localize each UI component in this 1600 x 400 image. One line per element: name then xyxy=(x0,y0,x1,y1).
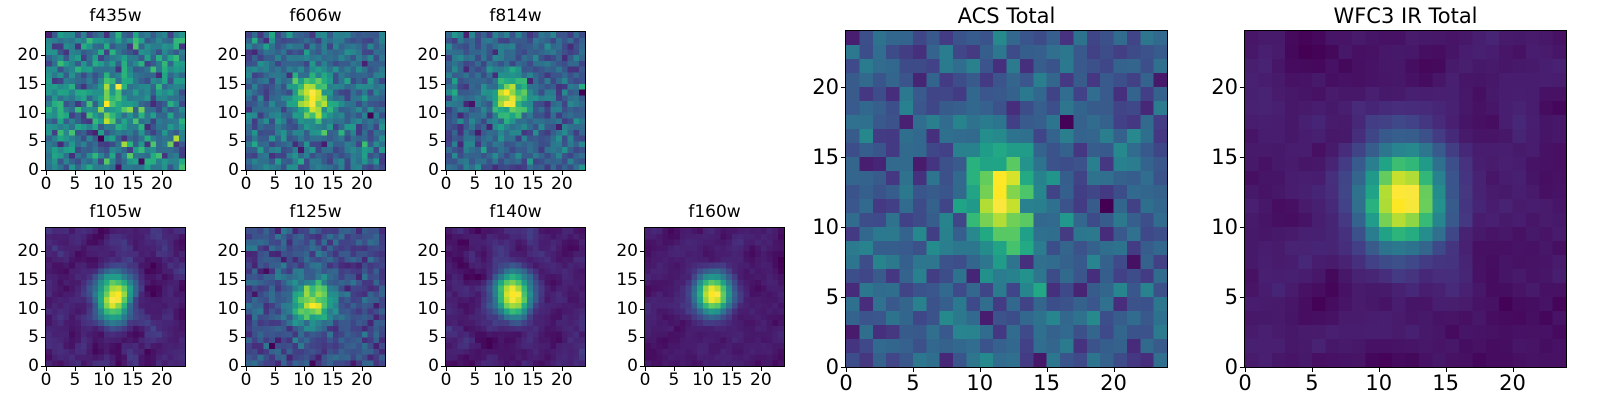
ytick-mark-acs-total-15 xyxy=(841,157,845,158)
panel-f125w: f125w0510152005101520 xyxy=(199,201,386,395)
xtick-mark-f140w-5 xyxy=(475,367,476,371)
ytick-label-f606w-15: 15 xyxy=(199,76,239,93)
ytick-label-f435w-20: 20 xyxy=(0,47,39,64)
xtick-label-wfc3-ir-total-5: 5 xyxy=(1292,373,1332,394)
xtick-mark-f125w-20 xyxy=(362,367,363,371)
panel-f160w: f160w0510152005101520 xyxy=(598,201,785,395)
ytick-label-f606w-10: 10 xyxy=(199,105,239,122)
ytick-mark-f105w-20 xyxy=(41,251,45,252)
ytick-label-f125w-15: 15 xyxy=(199,272,239,289)
ytick-mark-f814w-20 xyxy=(441,55,445,56)
ytick-label-acs-total-5: 5 xyxy=(799,287,839,308)
xtick-mark-f105w-20 xyxy=(162,367,163,371)
xtick-mark-f606w-10 xyxy=(304,171,305,175)
xtick-mark-f814w-15 xyxy=(533,171,534,175)
xtick-mark-acs-total-15 xyxy=(1047,368,1048,372)
heatmap-image-f140w xyxy=(446,228,585,366)
xtick-mark-f125w-5 xyxy=(275,367,276,371)
xtick-mark-wfc3-ir-total-5 xyxy=(1312,368,1313,372)
ytick-label-f814w-10: 10 xyxy=(399,105,439,122)
xtick-mark-f140w-10 xyxy=(504,367,505,371)
heatmap-axes-f606w xyxy=(245,31,386,171)
ytick-mark-f105w-0 xyxy=(41,366,45,367)
heatmap-image-acs-total xyxy=(846,31,1167,367)
ytick-mark-f435w-0 xyxy=(41,170,45,171)
xtick-mark-f814w-10 xyxy=(504,171,505,175)
panel-title-wfc3-ir-total: WFC3 IR Total xyxy=(1244,6,1567,27)
heatmap-image-f814w xyxy=(446,32,585,170)
ytick-mark-f160w-5 xyxy=(640,337,644,338)
heatmap-image-f606w xyxy=(246,32,385,170)
ytick-mark-f606w-15 xyxy=(241,84,245,85)
ytick-mark-f125w-15 xyxy=(241,280,245,281)
xtick-label-f160w-20: 20 xyxy=(741,372,781,389)
panel-title-f140w: f140w xyxy=(445,204,586,221)
ytick-mark-f125w-20 xyxy=(241,251,245,252)
heatmap-axes-f105w xyxy=(45,227,186,367)
xtick-mark-f160w-20 xyxy=(761,367,762,371)
xtick-mark-f606w-5 xyxy=(275,171,276,175)
xtick-mark-f105w-0 xyxy=(46,367,47,371)
panel-f105w: f105w0510152005101520 xyxy=(0,201,186,395)
ytick-label-f105w-10: 10 xyxy=(0,301,39,318)
xtick-mark-f435w-5 xyxy=(75,171,76,175)
xtick-label-wfc3-ir-total-20: 20 xyxy=(1493,373,1533,394)
panel-title-acs-total: ACS Total xyxy=(845,6,1168,27)
ytick-label-f435w-15: 15 xyxy=(0,76,39,93)
panel-f140w: f140w0510152005101520 xyxy=(399,201,586,395)
xtick-label-f606w-20: 20 xyxy=(342,176,382,193)
ytick-label-f140w-15: 15 xyxy=(399,272,439,289)
panel-f435w: f435w0510152005101520 xyxy=(0,5,186,199)
ytick-label-acs-total-15: 15 xyxy=(799,147,839,168)
xtick-mark-wfc3-ir-total-10 xyxy=(1379,368,1380,372)
xtick-mark-wfc3-ir-total-0 xyxy=(1245,368,1246,372)
ytick-mark-f105w-5 xyxy=(41,337,45,338)
panel-title-f105w: f105w xyxy=(45,204,186,221)
xtick-mark-wfc3-ir-total-15 xyxy=(1446,368,1447,372)
xtick-mark-f140w-0 xyxy=(446,367,447,371)
ytick-label-f140w-10: 10 xyxy=(399,301,439,318)
xtick-mark-acs-total-20 xyxy=(1114,368,1115,372)
heatmap-image-f160w xyxy=(645,228,784,366)
ytick-mark-wfc3-ir-total-0 xyxy=(1240,367,1244,368)
ytick-label-wfc3-ir-total-20: 20 xyxy=(1198,77,1238,98)
ytick-label-f814w-5: 5 xyxy=(399,133,439,150)
heatmap-axes-f140w xyxy=(445,227,586,367)
xtick-mark-f814w-5 xyxy=(475,171,476,175)
ytick-mark-f435w-15 xyxy=(41,84,45,85)
ytick-mark-f435w-10 xyxy=(41,113,45,114)
ytick-label-f160w-5: 5 xyxy=(598,329,638,346)
panel-acs-total: ACS Total0510152005101520 xyxy=(799,4,1168,396)
ytick-mark-acs-total-5 xyxy=(841,297,845,298)
ytick-mark-f160w-0 xyxy=(640,366,644,367)
xtick-mark-f606w-0 xyxy=(246,171,247,175)
xtick-mark-f435w-15 xyxy=(133,171,134,175)
xtick-label-wfc3-ir-total-10: 10 xyxy=(1359,373,1399,394)
ytick-mark-f435w-20 xyxy=(41,55,45,56)
xtick-mark-f125w-15 xyxy=(333,367,334,371)
panel-wfc3-ir-total: WFC3 IR Total0510152005101520 xyxy=(1198,4,1567,396)
heatmap-image-f435w xyxy=(46,32,185,170)
panel-title-f125w: f125w xyxy=(245,204,386,221)
ytick-mark-acs-total-0 xyxy=(841,367,845,368)
ytick-mark-f160w-10 xyxy=(640,309,644,310)
ytick-label-wfc3-ir-total-5: 5 xyxy=(1198,287,1238,308)
ytick-label-f140w-5: 5 xyxy=(399,329,439,346)
xtick-mark-f814w-0 xyxy=(446,171,447,175)
xtick-label-wfc3-ir-total-15: 15 xyxy=(1426,373,1466,394)
xtick-label-f105w-20: 20 xyxy=(142,372,182,389)
ytick-mark-f606w-5 xyxy=(241,141,245,142)
ytick-mark-f814w-5 xyxy=(441,141,445,142)
ytick-label-f125w-5: 5 xyxy=(199,329,239,346)
xtick-mark-f160w-5 xyxy=(674,367,675,371)
ytick-mark-f606w-0 xyxy=(241,170,245,171)
xtick-label-f125w-20: 20 xyxy=(342,372,382,389)
xtick-mark-f435w-0 xyxy=(46,171,47,175)
ytick-mark-f140w-20 xyxy=(441,251,445,252)
xtick-label-f140w-20: 20 xyxy=(542,372,582,389)
ytick-label-f814w-15: 15 xyxy=(399,76,439,93)
xtick-mark-f105w-10 xyxy=(104,367,105,371)
ytick-mark-wfc3-ir-total-10 xyxy=(1240,227,1244,228)
ytick-label-f125w-10: 10 xyxy=(199,301,239,318)
xtick-mark-acs-total-5 xyxy=(913,368,914,372)
ytick-label-f140w-20: 20 xyxy=(399,243,439,260)
heatmap-axes-f125w xyxy=(245,227,386,367)
xtick-mark-f606w-15 xyxy=(333,171,334,175)
ytick-mark-f814w-10 xyxy=(441,113,445,114)
ytick-mark-f435w-5 xyxy=(41,141,45,142)
xtick-mark-f105w-15 xyxy=(133,367,134,371)
xtick-mark-f125w-0 xyxy=(246,367,247,371)
ytick-mark-f606w-10 xyxy=(241,113,245,114)
xtick-mark-acs-total-10 xyxy=(980,368,981,372)
panel-title-f606w: f606w xyxy=(245,8,386,25)
xtick-mark-f140w-20 xyxy=(562,367,563,371)
ytick-label-f105w-15: 15 xyxy=(0,272,39,289)
xtick-mark-f435w-20 xyxy=(162,171,163,175)
ytick-mark-acs-total-20 xyxy=(841,87,845,88)
ytick-label-f606w-5: 5 xyxy=(199,133,239,150)
ytick-label-f814w-20: 20 xyxy=(399,47,439,64)
xtick-mark-f125w-10 xyxy=(304,367,305,371)
ytick-mark-f814w-0 xyxy=(441,170,445,171)
heatmap-image-wfc3-ir-total xyxy=(1245,31,1566,367)
xtick-mark-f140w-15 xyxy=(533,367,534,371)
panel-title-f435w: f435w xyxy=(45,8,186,25)
ytick-label-acs-total-20: 20 xyxy=(799,77,839,98)
ytick-label-wfc3-ir-total-15: 15 xyxy=(1198,147,1238,168)
xtick-label-acs-total-10: 10 xyxy=(960,373,1000,394)
panel-f814w: f814w0510152005101520 xyxy=(399,5,586,199)
xtick-mark-f814w-20 xyxy=(562,171,563,175)
ytick-mark-f125w-5 xyxy=(241,337,245,338)
ytick-mark-f160w-15 xyxy=(640,280,644,281)
xtick-label-f814w-20: 20 xyxy=(542,176,582,193)
heatmap-image-f105w xyxy=(46,228,185,366)
panel-title-f814w: f814w xyxy=(445,8,586,25)
panel-title-f160w: f160w xyxy=(644,204,785,221)
xtick-label-acs-total-0: 0 xyxy=(826,373,866,394)
figure-canvas: f435w0510152005101520f606w05101520051015… xyxy=(0,0,1600,400)
xtick-label-f435w-20: 20 xyxy=(142,176,182,193)
panel-f606w: f606w0510152005101520 xyxy=(199,5,386,199)
xtick-mark-f160w-15 xyxy=(732,367,733,371)
ytick-label-acs-total-10: 10 xyxy=(799,217,839,238)
ytick-mark-f606w-20 xyxy=(241,55,245,56)
ytick-label-f105w-5: 5 xyxy=(0,329,39,346)
heatmap-image-f125w xyxy=(246,228,385,366)
heatmap-axes-f160w xyxy=(644,227,785,367)
ytick-mark-wfc3-ir-total-5 xyxy=(1240,297,1244,298)
ytick-label-wfc3-ir-total-10: 10 xyxy=(1198,217,1238,238)
ytick-mark-f125w-0 xyxy=(241,366,245,367)
ytick-mark-f140w-10 xyxy=(441,309,445,310)
heatmap-axes-wfc3-ir-total xyxy=(1244,30,1567,368)
heatmap-axes-f814w xyxy=(445,31,586,171)
xtick-mark-f160w-0 xyxy=(645,367,646,371)
heatmap-axes-f435w xyxy=(45,31,186,171)
ytick-label-f160w-15: 15 xyxy=(598,272,638,289)
ytick-mark-f105w-15 xyxy=(41,280,45,281)
ytick-label-f435w-10: 10 xyxy=(0,105,39,122)
ytick-label-f606w-20: 20 xyxy=(199,47,239,64)
ytick-label-f160w-20: 20 xyxy=(598,243,638,260)
ytick-mark-f140w-5 xyxy=(441,337,445,338)
ytick-mark-wfc3-ir-total-20 xyxy=(1240,87,1244,88)
ytick-mark-f140w-0 xyxy=(441,366,445,367)
ytick-mark-wfc3-ir-total-15 xyxy=(1240,157,1244,158)
xtick-label-acs-total-5: 5 xyxy=(893,373,933,394)
ytick-label-f435w-5: 5 xyxy=(0,133,39,150)
ytick-mark-f125w-10 xyxy=(241,309,245,310)
xtick-mark-acs-total-0 xyxy=(846,368,847,372)
xtick-mark-f606w-20 xyxy=(362,171,363,175)
xtick-label-acs-total-20: 20 xyxy=(1094,373,1134,394)
ytick-mark-f105w-10 xyxy=(41,309,45,310)
xtick-mark-f105w-5 xyxy=(75,367,76,371)
xtick-mark-f435w-10 xyxy=(104,171,105,175)
xtick-label-acs-total-15: 15 xyxy=(1027,373,1067,394)
ytick-mark-f160w-20 xyxy=(640,251,644,252)
ytick-mark-f814w-15 xyxy=(441,84,445,85)
ytick-label-f160w-10: 10 xyxy=(598,301,638,318)
heatmap-axes-acs-total xyxy=(845,30,1168,368)
xtick-mark-f160w-10 xyxy=(703,367,704,371)
ytick-label-f105w-20: 20 xyxy=(0,243,39,260)
ytick-mark-acs-total-10 xyxy=(841,227,845,228)
xtick-mark-wfc3-ir-total-20 xyxy=(1513,368,1514,372)
xtick-label-wfc3-ir-total-0: 0 xyxy=(1225,373,1265,394)
ytick-mark-f140w-15 xyxy=(441,280,445,281)
ytick-label-f125w-20: 20 xyxy=(199,243,239,260)
